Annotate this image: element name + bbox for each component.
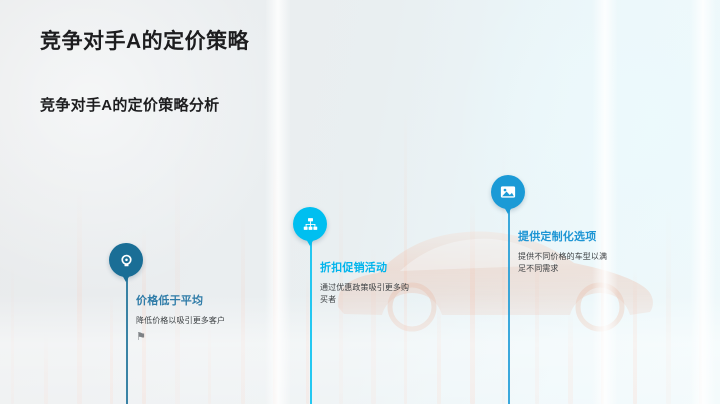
background-bar [666, 210, 671, 404]
milestone-pin[interactable] [491, 175, 525, 209]
flag-icon: ⚑ [136, 330, 146, 343]
target-icon [118, 252, 135, 269]
milestone-pin[interactable] [109, 243, 143, 277]
light-wash-1 [265, 0, 291, 404]
milestone-description: 通过优惠政策吸引更多购买者 [320, 282, 416, 307]
slide-canvas: 竞争对手A的定价策略 竞争对手A的定价策略分析 价格低于平均降低价格以吸引更多客… [0, 0, 720, 404]
background-bar [404, 103, 407, 404]
background-bar [77, 186, 82, 404]
milestone-description: 降低价格以吸引更多客户 [136, 315, 232, 327]
milestone-connector-line [508, 192, 510, 404]
background-bar [633, 268, 637, 404]
light-wash-3 [690, 0, 716, 404]
background-bar [470, 198, 475, 404]
background-bar [568, 310, 573, 404]
light-wash-2 [592, 0, 618, 404]
image-icon [499, 183, 517, 201]
background-bar [44, 333, 48, 404]
milestone-heading: 折扣促销活动 [320, 259, 416, 275]
page-subtitle: 竞争对手A的定价策略分析 [40, 94, 219, 115]
milestone-pin[interactable] [293, 207, 327, 241]
background-bar [175, 156, 180, 404]
background-bar [437, 298, 441, 404]
page-title: 竞争对手A的定价策略 [40, 25, 249, 55]
sitemap-icon [302, 216, 319, 233]
background-bar [241, 210, 245, 404]
milestone-text-block: 提供定制化选项提供不同价格的车型以满足不同需求 [518, 228, 614, 276]
milestone-text-block: 折扣促销活动通过优惠政策吸引更多购买者 [320, 259, 416, 307]
background-bar [110, 292, 113, 404]
floor-reflection [0, 294, 720, 404]
background-bar [208, 321, 211, 404]
background-bar [273, 121, 278, 404]
background-bar [699, 286, 702, 404]
milestone-heading: 提供定制化选项 [518, 228, 614, 244]
background-bar [306, 274, 309, 404]
milestone-connector-line [310, 224, 312, 404]
background-bar-chart [0, 0, 720, 404]
milestone-heading: 价格低于平均 [136, 292, 232, 308]
background-bar [601, 174, 604, 404]
milestone-description: 提供不同价格的车型以满足不同需求 [518, 251, 614, 276]
background-bar [11, 263, 14, 404]
milestone-text-block: 价格低于平均降低价格以吸引更多客户 [136, 292, 232, 327]
